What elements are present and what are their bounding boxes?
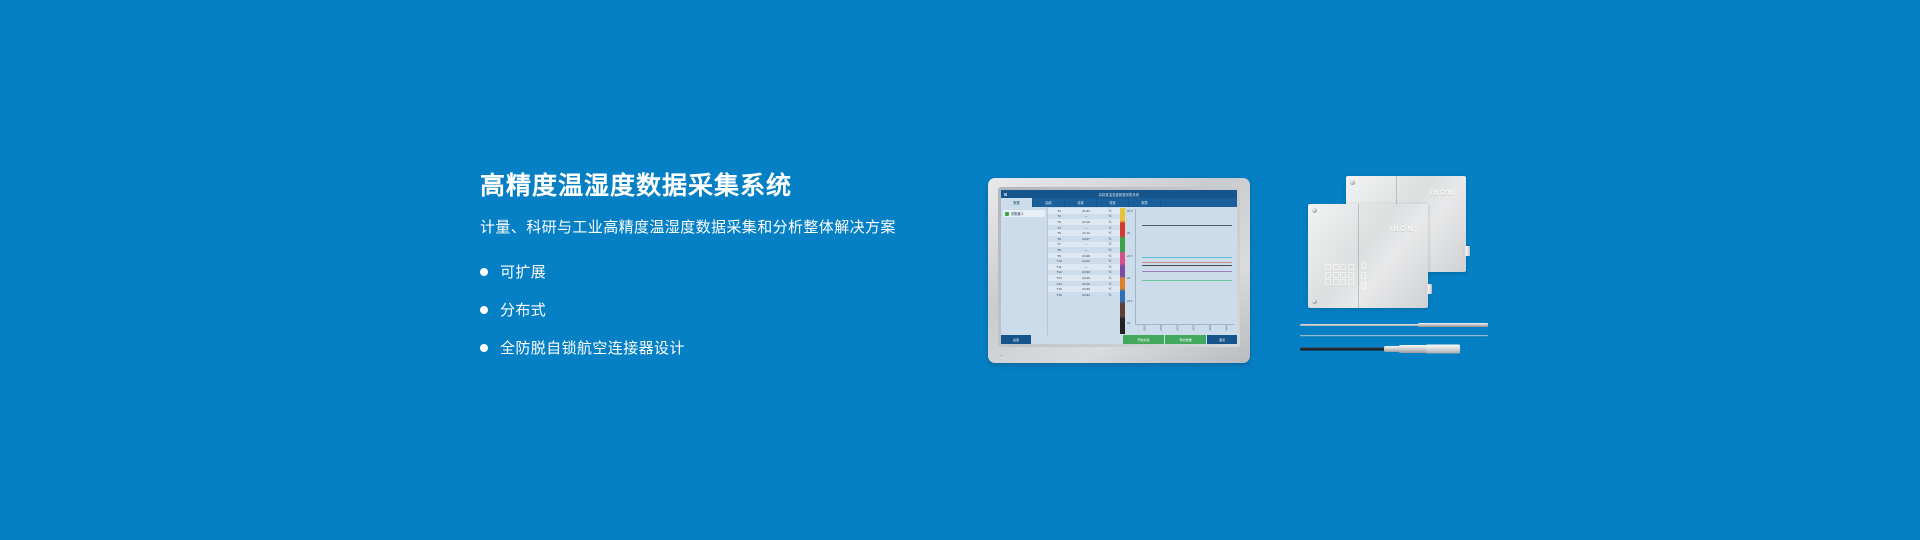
strain-relief — [1384, 346, 1400, 352]
cell-value: 24.19 — [1070, 220, 1102, 224]
cell-channel: T15 — [1048, 287, 1070, 291]
settings-button[interactable]: 设置 — [1001, 335, 1031, 344]
tab-report[interactable]: 报表 — [1129, 198, 1161, 207]
bullet-label: 分布式 — [500, 299, 546, 320]
cell-unit: ℃ — [1102, 209, 1118, 213]
cell-value: --- — [1070, 214, 1102, 218]
cell-unit: ℃ — [1102, 214, 1118, 218]
device-tree-panel: 采集器-1 — [1001, 207, 1048, 335]
list-item: 可扩展 — [480, 256, 950, 287]
chart-trace — [1142, 257, 1232, 258]
channel-color-legend — [1120, 208, 1125, 334]
cell-channel: T14 — [1048, 282, 1070, 286]
terminal-mark — [1348, 272, 1354, 278]
cell-unit: ℃ — [1102, 282, 1118, 286]
monitor-device: 高精度温湿度数据采集系统 数据 曲线 设置 校准 报表 采集器-1 — [988, 178, 1250, 363]
terminal-mark — [1333, 264, 1339, 270]
probe-tip — [1418, 323, 1488, 327]
cell-unit: ℃ — [1102, 254, 1118, 258]
chart-trace — [1142, 271, 1232, 272]
list-item: 分布式 — [480, 294, 950, 325]
table-row[interactable]: T924.98℃ — [1048, 253, 1120, 259]
x-tick-label: 10:30 — [1192, 325, 1195, 334]
monitor-bezel: 高精度温湿度数据采集系统 数据 曲线 设置 校准 报表 采集器-1 — [998, 187, 1240, 347]
bullet-label: 可扩展 — [500, 261, 546, 282]
brand-logo: INON — [1390, 226, 1414, 233]
screw-icon — [1312, 299, 1317, 304]
cell-channel: T12 — [1048, 270, 1070, 274]
cell-value: 24.00 — [1070, 259, 1102, 263]
list-item: 全防脱自锁航空连接器设计 — [480, 332, 950, 363]
probe-cable — [1300, 347, 1386, 350]
tab-data[interactable]: 数据 — [1001, 198, 1033, 207]
monitor-screen: 高精度温湿度数据采集系统 数据 曲线 设置 校准 报表 采集器-1 — [1001, 190, 1237, 344]
cell-unit: ℃ — [1102, 276, 1118, 280]
cell-channel: T11 — [1048, 265, 1070, 269]
chart-trace — [1142, 225, 1232, 226]
cell-value: 24.98 — [1070, 254, 1102, 258]
app-tabbar: 数据 曲线 设置 校准 报表 — [1001, 198, 1237, 207]
cell-channel: T3 — [1048, 220, 1070, 224]
terminal-mark — [1333, 272, 1339, 278]
cell-channel: T6 — [1048, 237, 1070, 241]
exit-button[interactable]: 退出 — [1207, 335, 1237, 344]
tab-curve[interactable]: 曲线 — [1033, 198, 1065, 207]
page-subtitle: 计量、科研与工业高精度温湿度数据采集和分析整体解决方案 — [480, 218, 950, 238]
table-row[interactable]: T11---℃ — [1048, 264, 1120, 270]
cell-channel: T2 — [1048, 214, 1070, 218]
cell-unit: ℃ — [1102, 270, 1118, 274]
cell-unit: ℃ — [1102, 220, 1118, 224]
x-tick-label: 10:20 — [1175, 325, 1178, 334]
hero-banner: 高精度温湿度数据采集系统 计量、科研与工业高精度温湿度数据采集和分析整体解决方案… — [0, 0, 1920, 540]
cell-value: --- — [1070, 265, 1102, 269]
chart-trace — [1142, 265, 1232, 266]
cell-unit: ℃ — [1102, 265, 1118, 269]
feature-bullet-list: 可扩展 分布式 全防脱自锁航空连接器设计 — [480, 256, 950, 363]
chart-plot-area — [1135, 209, 1234, 325]
tab-calibration[interactable]: 校准 — [1097, 198, 1129, 207]
tree-node-label: 采集器-1 — [1011, 211, 1023, 216]
cell-value: 24.94 — [1070, 293, 1102, 297]
terminal-mark — [1325, 264, 1331, 270]
x-tick-label: 10:10 — [1159, 325, 1162, 334]
terminal-mark — [1325, 279, 1331, 285]
terminal-mark — [1325, 272, 1331, 278]
table-row[interactable]: T1524.90℃ — [1048, 286, 1120, 292]
table-row[interactable]: T1324.28℃ — [1048, 275, 1120, 281]
tree-node-collector[interactable]: 采集器-1 — [1003, 210, 1045, 217]
cell-channel: T13 — [1048, 276, 1070, 280]
table-row[interactable]: T8---℃ — [1048, 247, 1120, 253]
cell-unit: ℃ — [1102, 259, 1118, 263]
table-row[interactable]: T1224.90℃ — [1048, 270, 1120, 276]
table-row[interactable]: T1024.00℃ — [1048, 258, 1120, 264]
connector-body — [1399, 345, 1427, 353]
table-row[interactable]: T524.12℃ — [1048, 230, 1120, 236]
table-row[interactable]: T7---℃ — [1048, 242, 1120, 248]
monitor-power-indicator: ⌁ — [1000, 353, 1003, 359]
connector-shell — [1426, 344, 1460, 353]
y-tick-label: 23 — [1127, 321, 1135, 325]
cell-unit: ℃ — [1102, 242, 1118, 246]
cell-channel: T4 — [1048, 226, 1070, 230]
cell-unit: ℃ — [1102, 226, 1118, 230]
start-acquisition-button[interactable]: 开始采集 — [1123, 335, 1165, 344]
chart-x-axis: 10:0010:1010:2010:3010:4010:50 — [1136, 325, 1234, 334]
cell-unit: ℃ — [1102, 248, 1118, 252]
terminal-mark — [1340, 264, 1346, 270]
cell-channel: T10 — [1048, 259, 1070, 263]
bullet-label: 全防脱自锁航空连接器设计 — [500, 337, 685, 358]
probe-humidity — [1300, 334, 1488, 337]
probe-temperature — [1300, 322, 1488, 327]
cell-unit: ℃ — [1102, 231, 1118, 235]
connector-port — [1464, 246, 1470, 256]
table-row[interactable]: T1624.94℃ — [1048, 292, 1120, 298]
enclosure-seam — [1358, 204, 1359, 308]
cell-value: 24.90 — [1070, 287, 1102, 291]
cell-value: --- — [1070, 226, 1102, 230]
chart-y-axis: 25.02524.52423.523 — [1127, 209, 1135, 325]
cell-value: 24.15 — [1070, 282, 1102, 286]
terminal-block-markings — [1325, 262, 1377, 292]
table-row[interactable]: T324.19℃ — [1048, 219, 1120, 225]
app-window-title: 高精度温湿度数据采集系统 — [1001, 192, 1237, 197]
channel-table: T121.81℃T2---℃T324.19℃T4---℃T524.12℃T624… — [1048, 207, 1120, 335]
cell-channel: T7 — [1048, 242, 1070, 246]
cell-value: 24.07 — [1070, 237, 1102, 241]
footer-spacer — [1031, 335, 1123, 344]
table-row[interactable]: T1424.15℃ — [1048, 281, 1120, 287]
x-tick-label: 10:00 — [1143, 325, 1146, 334]
cell-channel: T9 — [1048, 254, 1070, 258]
table-row[interactable]: T624.07℃ — [1048, 236, 1120, 242]
hero-copy: 高精度温湿度数据采集系统 计量、科研与工业高精度温湿度数据采集和分析整体解决方案… — [480, 172, 950, 370]
trend-chart: 25.02524.52423.523 10:0010:1010:2010:301… — [1126, 207, 1237, 335]
x-tick-label: 10:40 — [1208, 325, 1211, 334]
terminal-mark — [1340, 272, 1346, 278]
app-titlebar: 高精度温湿度数据采集系统 — [1001, 190, 1237, 198]
x-tick-label: 10:50 — [1224, 325, 1227, 334]
cell-unit: ℃ — [1102, 287, 1118, 291]
terminal-mark — [1348, 264, 1354, 270]
screw-icon — [1350, 180, 1355, 185]
device-group: INON INON — [1300, 176, 1500, 366]
cell-unit: ℃ — [1102, 237, 1118, 241]
export-data-button[interactable]: 导出数据 — [1165, 335, 1207, 344]
brand-logo: INON — [1430, 190, 1454, 197]
cell-channel: T16 — [1048, 293, 1070, 297]
screw-icon — [1312, 208, 1317, 213]
bullet-dot-icon — [480, 344, 488, 352]
y-tick-label: 23.5 — [1127, 299, 1135, 303]
status-dot-icon — [1005, 212, 1009, 216]
probe-cable — [1300, 335, 1488, 337]
app-footer: 设置 开始采集 导出数据 退出 — [1001, 335, 1237, 344]
y-tick-label: 24.5 — [1127, 254, 1135, 258]
chart-trace — [1142, 262, 1232, 263]
cell-value: 24.90 — [1070, 270, 1102, 274]
probe-cable — [1300, 324, 1420, 326]
cell-value: 24.12 — [1070, 231, 1102, 235]
terminal-mark — [1340, 279, 1346, 285]
table-row[interactable]: T2---℃ — [1048, 214, 1120, 220]
tab-settings[interactable]: 设置 — [1065, 198, 1097, 207]
y-tick-label: 25.0 — [1127, 209, 1135, 213]
cell-channel: T8 — [1048, 248, 1070, 252]
y-tick-label: 25 — [1127, 231, 1135, 235]
y-tick-label: 24 — [1127, 276, 1135, 280]
cell-value: --- — [1070, 242, 1102, 246]
bullet-dot-icon — [480, 306, 488, 314]
app-body: 采集器-1 T121.81℃T2---℃T324.19℃T4---℃T524.1… — [1001, 207, 1237, 335]
probe-connector — [1300, 344, 1488, 353]
bullet-dot-icon — [480, 268, 488, 276]
cell-channel: T5 — [1048, 231, 1070, 235]
cell-value: 24.28 — [1070, 276, 1102, 280]
chart-trace — [1142, 280, 1232, 281]
cell-channel: T1 — [1048, 209, 1070, 213]
cell-unit: ℃ — [1102, 293, 1118, 297]
terminal-mark — [1333, 279, 1339, 285]
cell-value: --- — [1070, 248, 1102, 252]
connector-port — [1426, 284, 1432, 294]
terminal-mark — [1348, 279, 1354, 285]
page-title: 高精度温湿度数据采集系统 — [480, 172, 950, 201]
data-logger-enclosure-front: INON — [1308, 204, 1428, 308]
cell-value: 21.81 — [1070, 209, 1102, 213]
table-row[interactable]: T121.81℃ — [1048, 208, 1120, 214]
table-row[interactable]: T4---℃ — [1048, 225, 1120, 231]
